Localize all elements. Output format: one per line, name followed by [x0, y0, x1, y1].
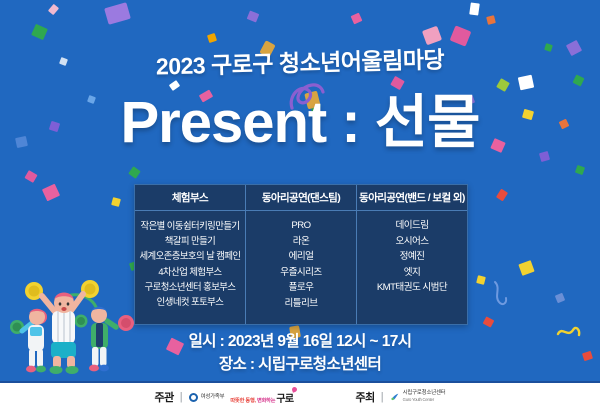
- guro-youth-center-name-en: Guro Youth Center: [403, 397, 434, 402]
- guro-logo: 따뜻한 동행, 변화하는 구로: [230, 390, 293, 405]
- list-item: PRO: [246, 218, 356, 234]
- page-title: Present : 선물: [0, 93, 600, 154]
- confetti-piece: [247, 10, 260, 22]
- program-column-experience: 작은별 이동쉼터키링만들기 책갈피 만들기 세계오존층보호의 날 캠페인 4차산…: [135, 211, 245, 324]
- organizer-label: 주최: [356, 389, 375, 405]
- confetti-piece: [476, 275, 486, 285]
- confetti-piece: [496, 189, 508, 202]
- confetti-piece: [486, 15, 496, 25]
- confetti-piece: [469, 2, 480, 15]
- program-list-experience: 작은별 이동쉼터키링만들기 책갈피 만들기 세계오존층보호의 날 캠페인 4차산…: [133, 211, 247, 309]
- program-column-band: 데이드림 오시어스 정예진 엣지 KMT태권도 시범단: [356, 211, 467, 324]
- organizer-separator: |: [381, 391, 384, 403]
- list-item: 책갈피 만들기: [135, 233, 245, 248]
- confetti-piece: [572, 74, 584, 86]
- list-item: 리틀리브: [246, 296, 356, 312]
- confetti-piece: [496, 78, 510, 92]
- list-item: 작은별 이동쉼터키링만들기: [135, 218, 245, 233]
- confetti-piece: [518, 75, 534, 91]
- confetti-piece: [351, 13, 363, 25]
- organizer-group: 주최 | 시립구로청소년센터 Guro Youth Center: [356, 389, 446, 405]
- program-table-header-row: 체험부스 동아리공연(댄스팀) 동아리공연(밴드 / 보컬 외): [135, 185, 467, 211]
- guro-logo-name: 구로: [276, 390, 293, 405]
- list-item: 엣지: [357, 265, 467, 281]
- guro-youth-center-text: 시립구로청소년센터 Guro Youth Center: [403, 390, 446, 404]
- footer-bar: 주관 | 여성가족부 따뜻한 동행, 변화하는 구로 주최 |: [0, 381, 600, 411]
- list-item: 라온: [246, 234, 356, 250]
- guro-youth-center-name-ko: 시립구로청소년센터: [403, 390, 446, 396]
- guro-slogan: 따뜻한 동행, 변화하는: [230, 397, 275, 404]
- program-list-dance: PRO 라온 에리얼 우즐시리즈 플로우 리틀리브: [244, 211, 358, 311]
- cheering-youth-illustration: [4, 265, 144, 383]
- mascot-right: [75, 307, 135, 372]
- program-list-band: 데이드림 오시어스 정예진 엣지 KMT태권도 시범단: [355, 211, 469, 296]
- confetti-piece: [207, 33, 217, 43]
- kicker-text: 2023 구로구 청소년어울림마당: [0, 37, 600, 86]
- bird-icon: [390, 392, 400, 402]
- squiggle-decoration: [492, 278, 518, 308]
- program-column-header-band: 동아리공연(밴드 / 보컬 외): [356, 185, 467, 210]
- mogef-logo-text: 여성가족부: [201, 394, 225, 401]
- confetti-piece: [555, 293, 565, 303]
- poster-canvas: 2023 구로구 청소년어울림마당 Present : 선물 체험부스 동아리공…: [0, 0, 600, 411]
- program-column-dance: PRO 라온 에리얼 우즐시리즈 플로우 리틀리브: [245, 211, 356, 324]
- program-table-body: 작은별 이동쉼터키링만들기 책갈피 만들기 세계오존층보호의 날 캠페인 4차산…: [135, 211, 467, 324]
- confetti-piece: [390, 76, 405, 90]
- host-separator: |: [180, 391, 183, 403]
- guro-youth-center-logo: 시립구로청소년센터 Guro Youth Center: [390, 390, 446, 404]
- list-item: 정예진: [357, 249, 467, 265]
- host-group: 주관 | 여성가족부 따뜻한 동행, 변화하는 구로: [155, 389, 294, 405]
- taegeuk-icon: [189, 393, 198, 402]
- confetti-piece: [518, 260, 534, 276]
- list-item: 구로청소년센터 홍보부스: [135, 279, 245, 294]
- program-column-header-dance: 동아리공연(댄스팀): [245, 185, 356, 210]
- host-label: 주관: [155, 389, 174, 405]
- confetti-piece: [24, 170, 37, 183]
- list-item: 세계오존층보호의 날 캠페인: [135, 248, 245, 263]
- confetti-piece: [483, 316, 495, 327]
- confetti-piece: [104, 2, 131, 25]
- mogef-logo: 여성가족부: [189, 393, 225, 402]
- list-item: 4차산업 체험부스: [135, 264, 245, 279]
- list-item: 인생네컷 포토부스: [135, 294, 245, 309]
- confetti-piece: [128, 166, 141, 179]
- list-item: 우즐시리즈: [246, 265, 356, 281]
- confetti-piece: [48, 4, 59, 15]
- confetti-piece: [575, 165, 585, 175]
- mascot-left: [10, 309, 47, 373]
- confetti-piece: [42, 184, 60, 202]
- list-item: 플로우: [246, 280, 356, 296]
- program-table: 체험부스 동아리공연(댄스팀) 동아리공연(밴드 / 보컬 외) 작은별 이동쉼…: [134, 184, 468, 325]
- list-item: 오시어스: [357, 234, 467, 250]
- guro-slogan-warm: 따뜻한 동행,: [230, 398, 255, 404]
- confetti-piece: [111, 197, 121, 207]
- guro-slogan-change: 변화하는: [257, 398, 275, 404]
- list-item: 데이드림: [357, 218, 467, 234]
- list-item: 에리얼: [246, 249, 356, 265]
- program-column-header-experience: 체험부스: [135, 185, 245, 210]
- list-item: KMT태권도 시범단: [357, 280, 467, 296]
- guro-logo-dot-icon: [291, 386, 297, 392]
- confetti-piece: [31, 24, 48, 40]
